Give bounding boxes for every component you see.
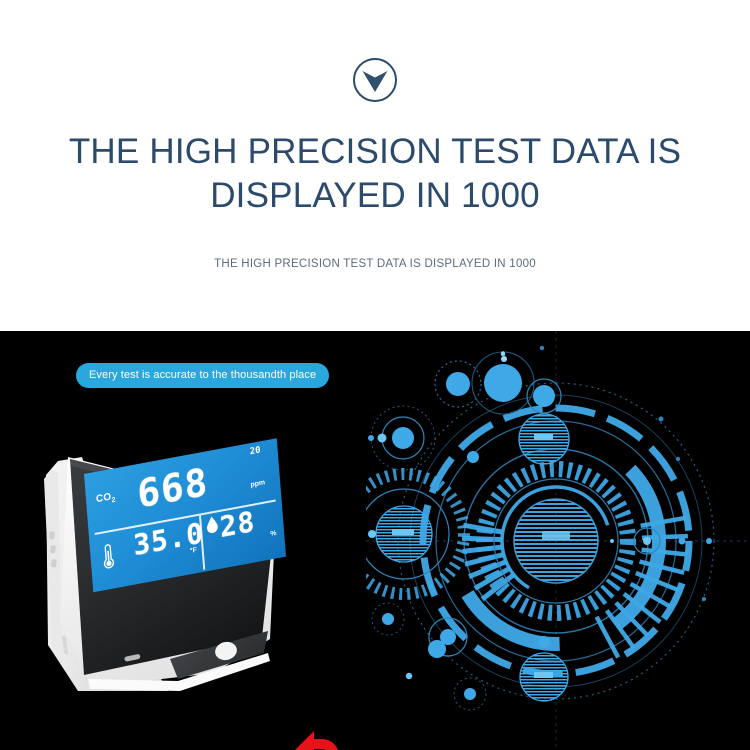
page-root: THE HIGH PRECISION TEST DATA IS DISPLAYE… (0, 0, 750, 750)
hero-section: THE HIGH PRECISION TEST DATA IS DISPLAYE… (0, 0, 750, 331)
water-drop-icon (205, 514, 219, 534)
thermometer-icon (101, 542, 115, 570)
humidity-value: 28 (219, 506, 257, 545)
co2-value: 668 (136, 459, 210, 516)
humidity-unit: % (270, 530, 277, 538)
page-title: THE HIGH PRECISION TEST DATA IS DISPLAYE… (0, 130, 750, 218)
callout-tooltip: Every test is accurate to the thousandth… (76, 363, 329, 388)
lcd-badge: 20 (250, 445, 261, 457)
temperature-unit: °F (190, 547, 198, 555)
tech-hud-graphic (366, 331, 750, 750)
page-subtitle: THE HIGH PRECISION TEST DATA IS DISPLAYE… (0, 258, 750, 270)
co2-label: CO2 (96, 491, 117, 508)
co2-unit: ppm (250, 479, 265, 489)
circle-chevron-down-icon (352, 57, 398, 103)
return-arrow-left-icon (292, 729, 344, 750)
